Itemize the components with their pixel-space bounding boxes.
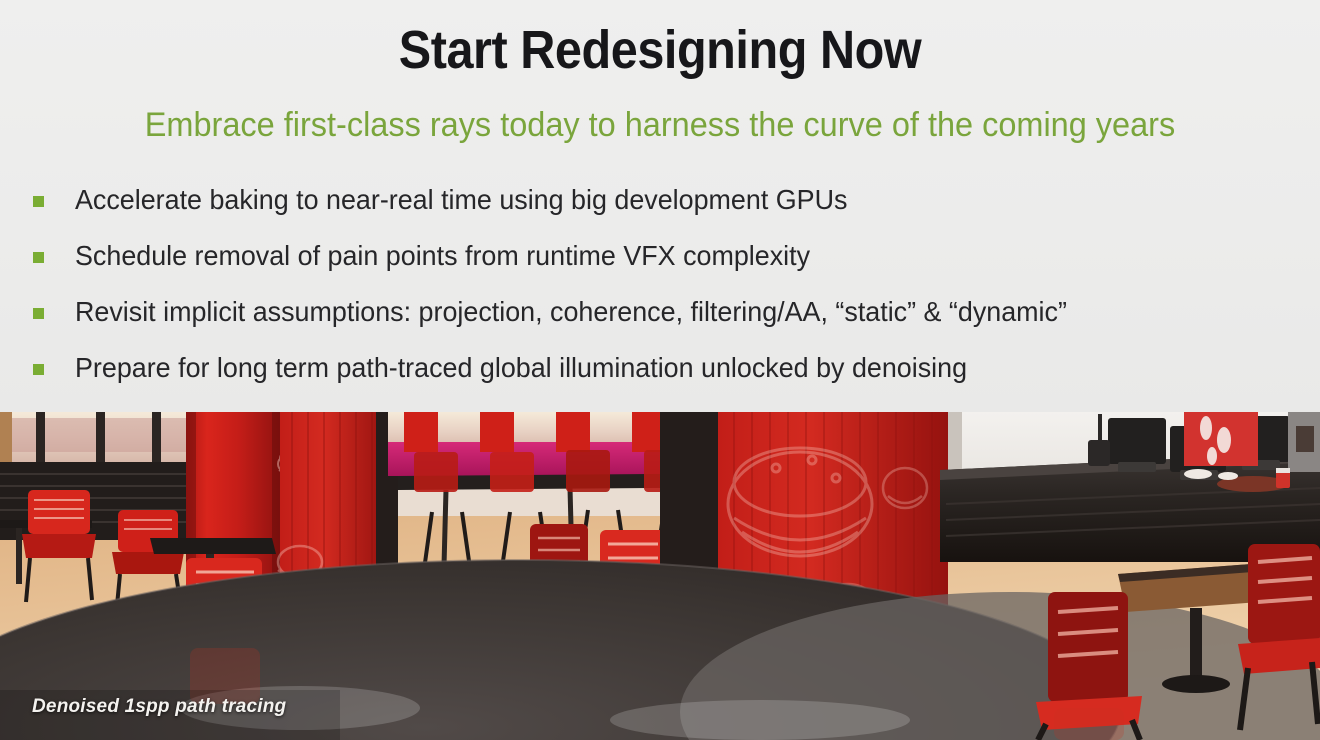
image-caption: Denoised 1spp path tracing	[32, 696, 286, 718]
page-title: Start Redesigning Now	[66, 18, 1254, 82]
square-bullet-icon	[33, 252, 44, 263]
bullet-text: Schedule removal of pain points from run…	[75, 239, 810, 273]
list-item: Revisit implicit assumptions: projection…	[0, 284, 1320, 340]
square-bullet-icon	[33, 196, 44, 207]
restaurant-scene-illustration	[0, 412, 1320, 740]
square-bullet-icon	[33, 308, 44, 319]
list-item: Schedule removal of pain points from run…	[0, 228, 1320, 284]
bullet-text: Accelerate baking to near-real time usin…	[75, 183, 847, 217]
bullet-text: Prepare for long term path-traced global…	[75, 351, 967, 385]
bullet-list: Accelerate baking to near-real time usin…	[0, 172, 1320, 396]
square-bullet-icon	[33, 364, 44, 375]
list-item: Prepare for long term path-traced global…	[0, 340, 1320, 396]
bullet-text: Revisit implicit assumptions: projection…	[75, 295, 1067, 329]
path-traced-render-image: Denoised 1spp path tracing	[0, 412, 1320, 740]
presentation-slide: Start Redesigning Now Embrace first-clas…	[0, 0, 1320, 740]
slide-text-panel: Start Redesigning Now Embrace first-clas…	[0, 0, 1320, 412]
slide-subtitle: Embrace first-class rays today to harnes…	[30, 103, 1291, 147]
list-item: Accelerate baking to near-real time usin…	[0, 172, 1320, 228]
